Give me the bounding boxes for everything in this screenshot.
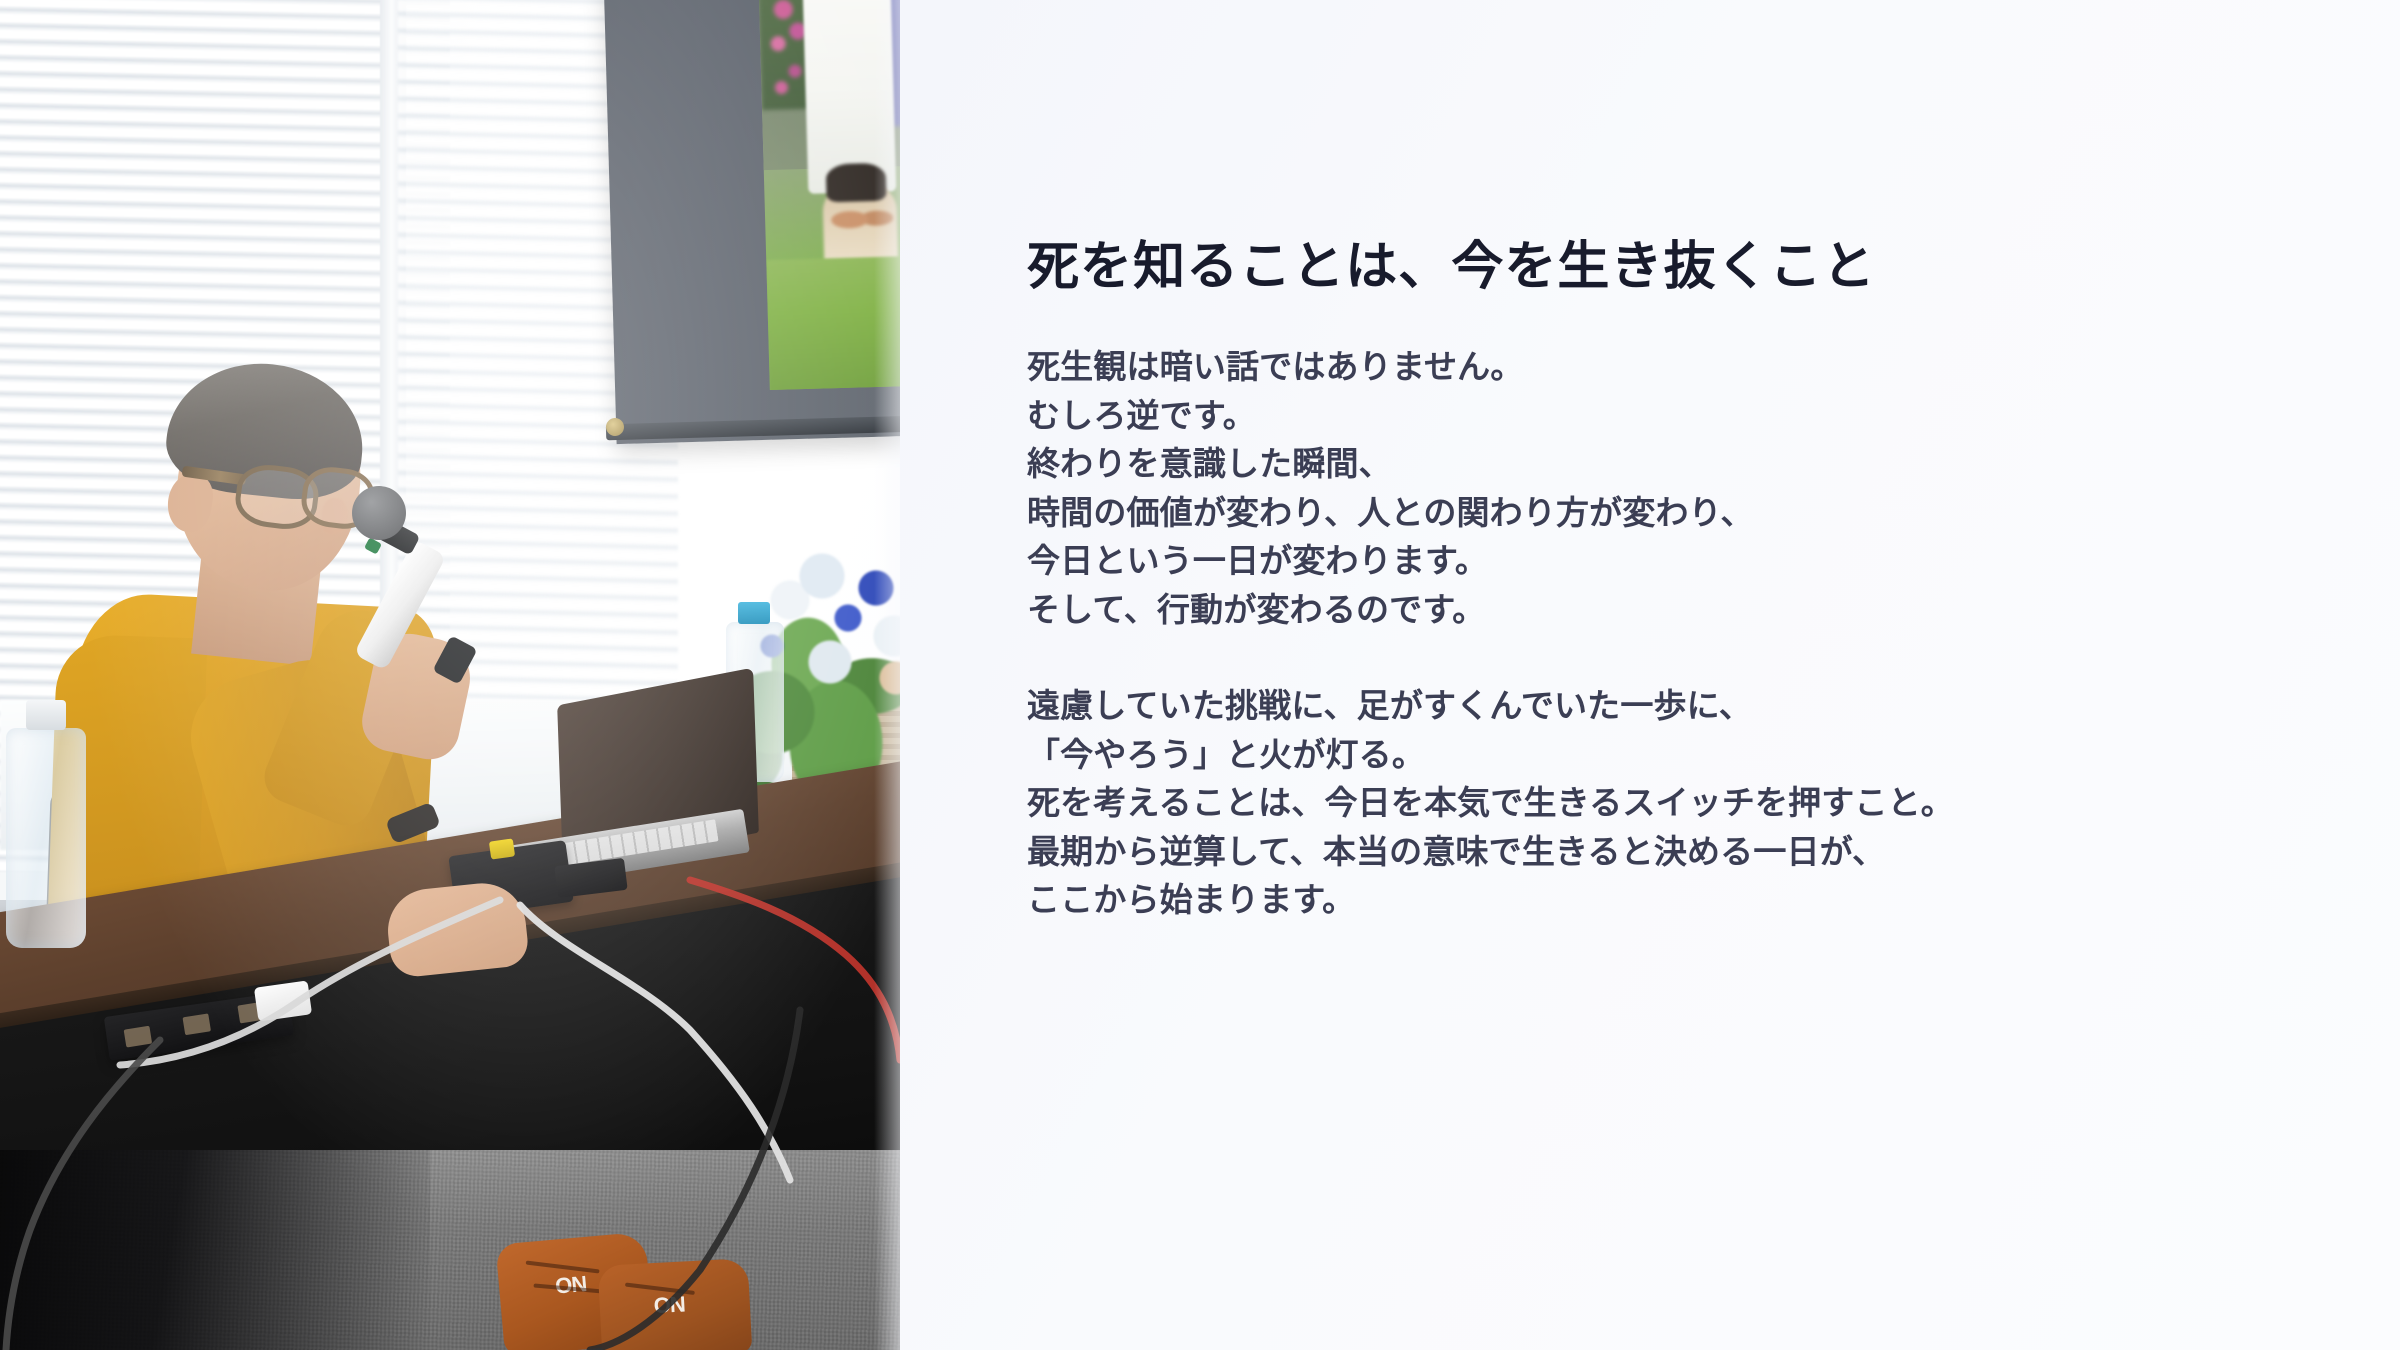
black-cable — [590, 1010, 800, 1350]
white-cable-2 — [520, 905, 790, 1180]
presentation-photo: ON ON — [0, 0, 900, 1350]
body-line: 死生観は暗い話ではありません。 — [1027, 343, 2400, 392]
body-line: 「今やろう」と火が灯る。 — [1027, 731, 2400, 780]
body-line: そして、行動が変わるのです。 — [1027, 586, 2400, 635]
body-line: 遠慮していた挑戦に、足がすくんでいた一歩に、 — [1027, 682, 2400, 731]
body-line: むしろ逆です。 — [1027, 392, 2400, 441]
white-cable — [120, 900, 500, 1065]
text-panel: 死を知ることは、今を生き抜くこと 死生観は暗い話ではありません。 むしろ逆です。… — [900, 0, 2400, 1350]
slide-title: 死を知ることは、今を生き抜くこと — [1027, 236, 2400, 299]
paragraph-2: 遠慮していた挑戦に、足がすくんでいた一歩に、 「今やろう」と火が灯る。 死を考え… — [1027, 682, 2400, 925]
cable-overlay — [0, 0, 900, 1350]
paragraph-1: 死生観は暗い話ではありません。 むしろ逆です。 終わりを意識した瞬間、 時間の価… — [1027, 343, 2400, 634]
body-line: 死を考えることは、今日を本気で生きるスイッチを押すこと。 — [1027, 779, 2400, 828]
body-line: 最期から逆算して、本当の意味で生きると決める一日が、 — [1027, 828, 2400, 877]
body-line: 時間の価値が変わり、人との関わり方が変わり、 — [1027, 489, 2400, 538]
body-line: 終わりを意識した瞬間、 — [1027, 440, 2400, 489]
slide-root: ON ON 死を知ることは、今を生き抜くこと 死生観は暗い話ではありません。 む… — [0, 0, 2400, 1350]
body-line: 今日という一日が変わります。 — [1027, 537, 2400, 586]
body-line: ここから始まります。 — [1027, 876, 2400, 925]
grey-cable — [6, 1040, 160, 1350]
